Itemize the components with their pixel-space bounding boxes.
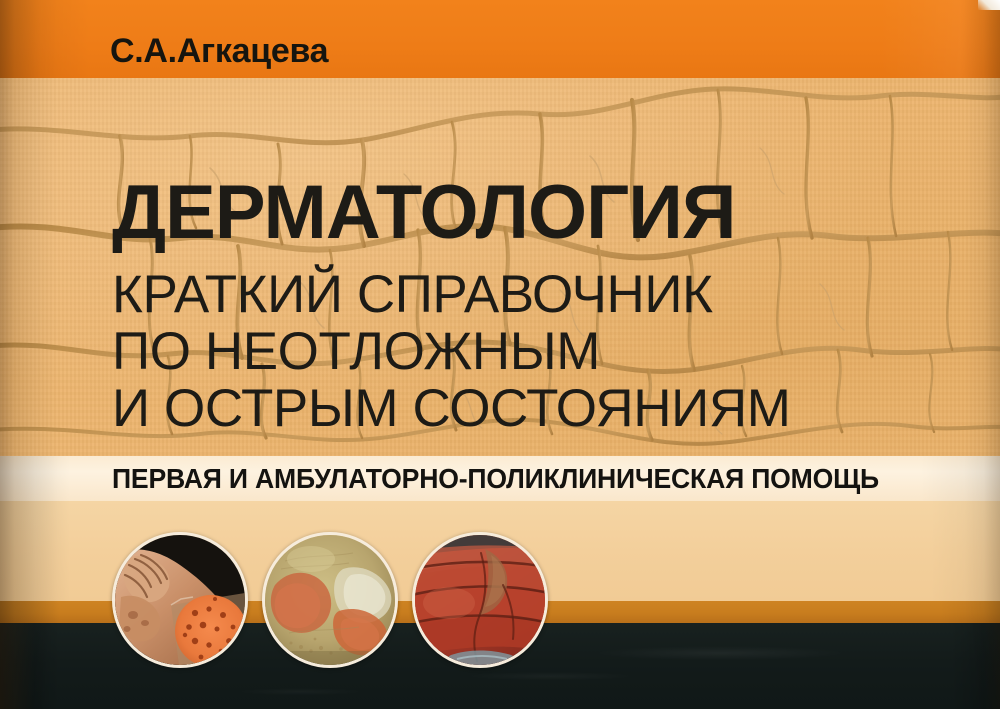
subtitle-line-1: КРАТКИЙ СПРАВОЧНИК [112,268,713,321]
clinical-photo-erythema [412,532,548,668]
clinical-photo-skin-lesion-image [265,535,395,665]
subtitle-line-3: И ОСТРЫМ СОСТОЯНИЯМ [112,382,790,435]
page-title: ДЕРМАТОЛОГИЯ [112,175,735,251]
clinical-photo-erythema-image [415,535,545,665]
subtitle-line-2: ПО НЕОТЛОЖНЫМ [112,325,600,378]
clinical-photo-skin-lesion [262,532,398,668]
book-cover: С.А.Агкацева ДЕРМАТОЛОГИЯ КРАТКИЙ СПРАВО… [0,0,1000,709]
strapline-text: ПЕРВАЯ И АМБУЛАТОРНО-ПОЛИКЛИНИЧЕСКАЯ ПОМ… [112,465,879,493]
clinical-photo-hand-rash [112,532,248,668]
author-name: С.А.Агкацева [110,34,328,68]
clinical-photo-hand-rash-image [115,535,245,665]
